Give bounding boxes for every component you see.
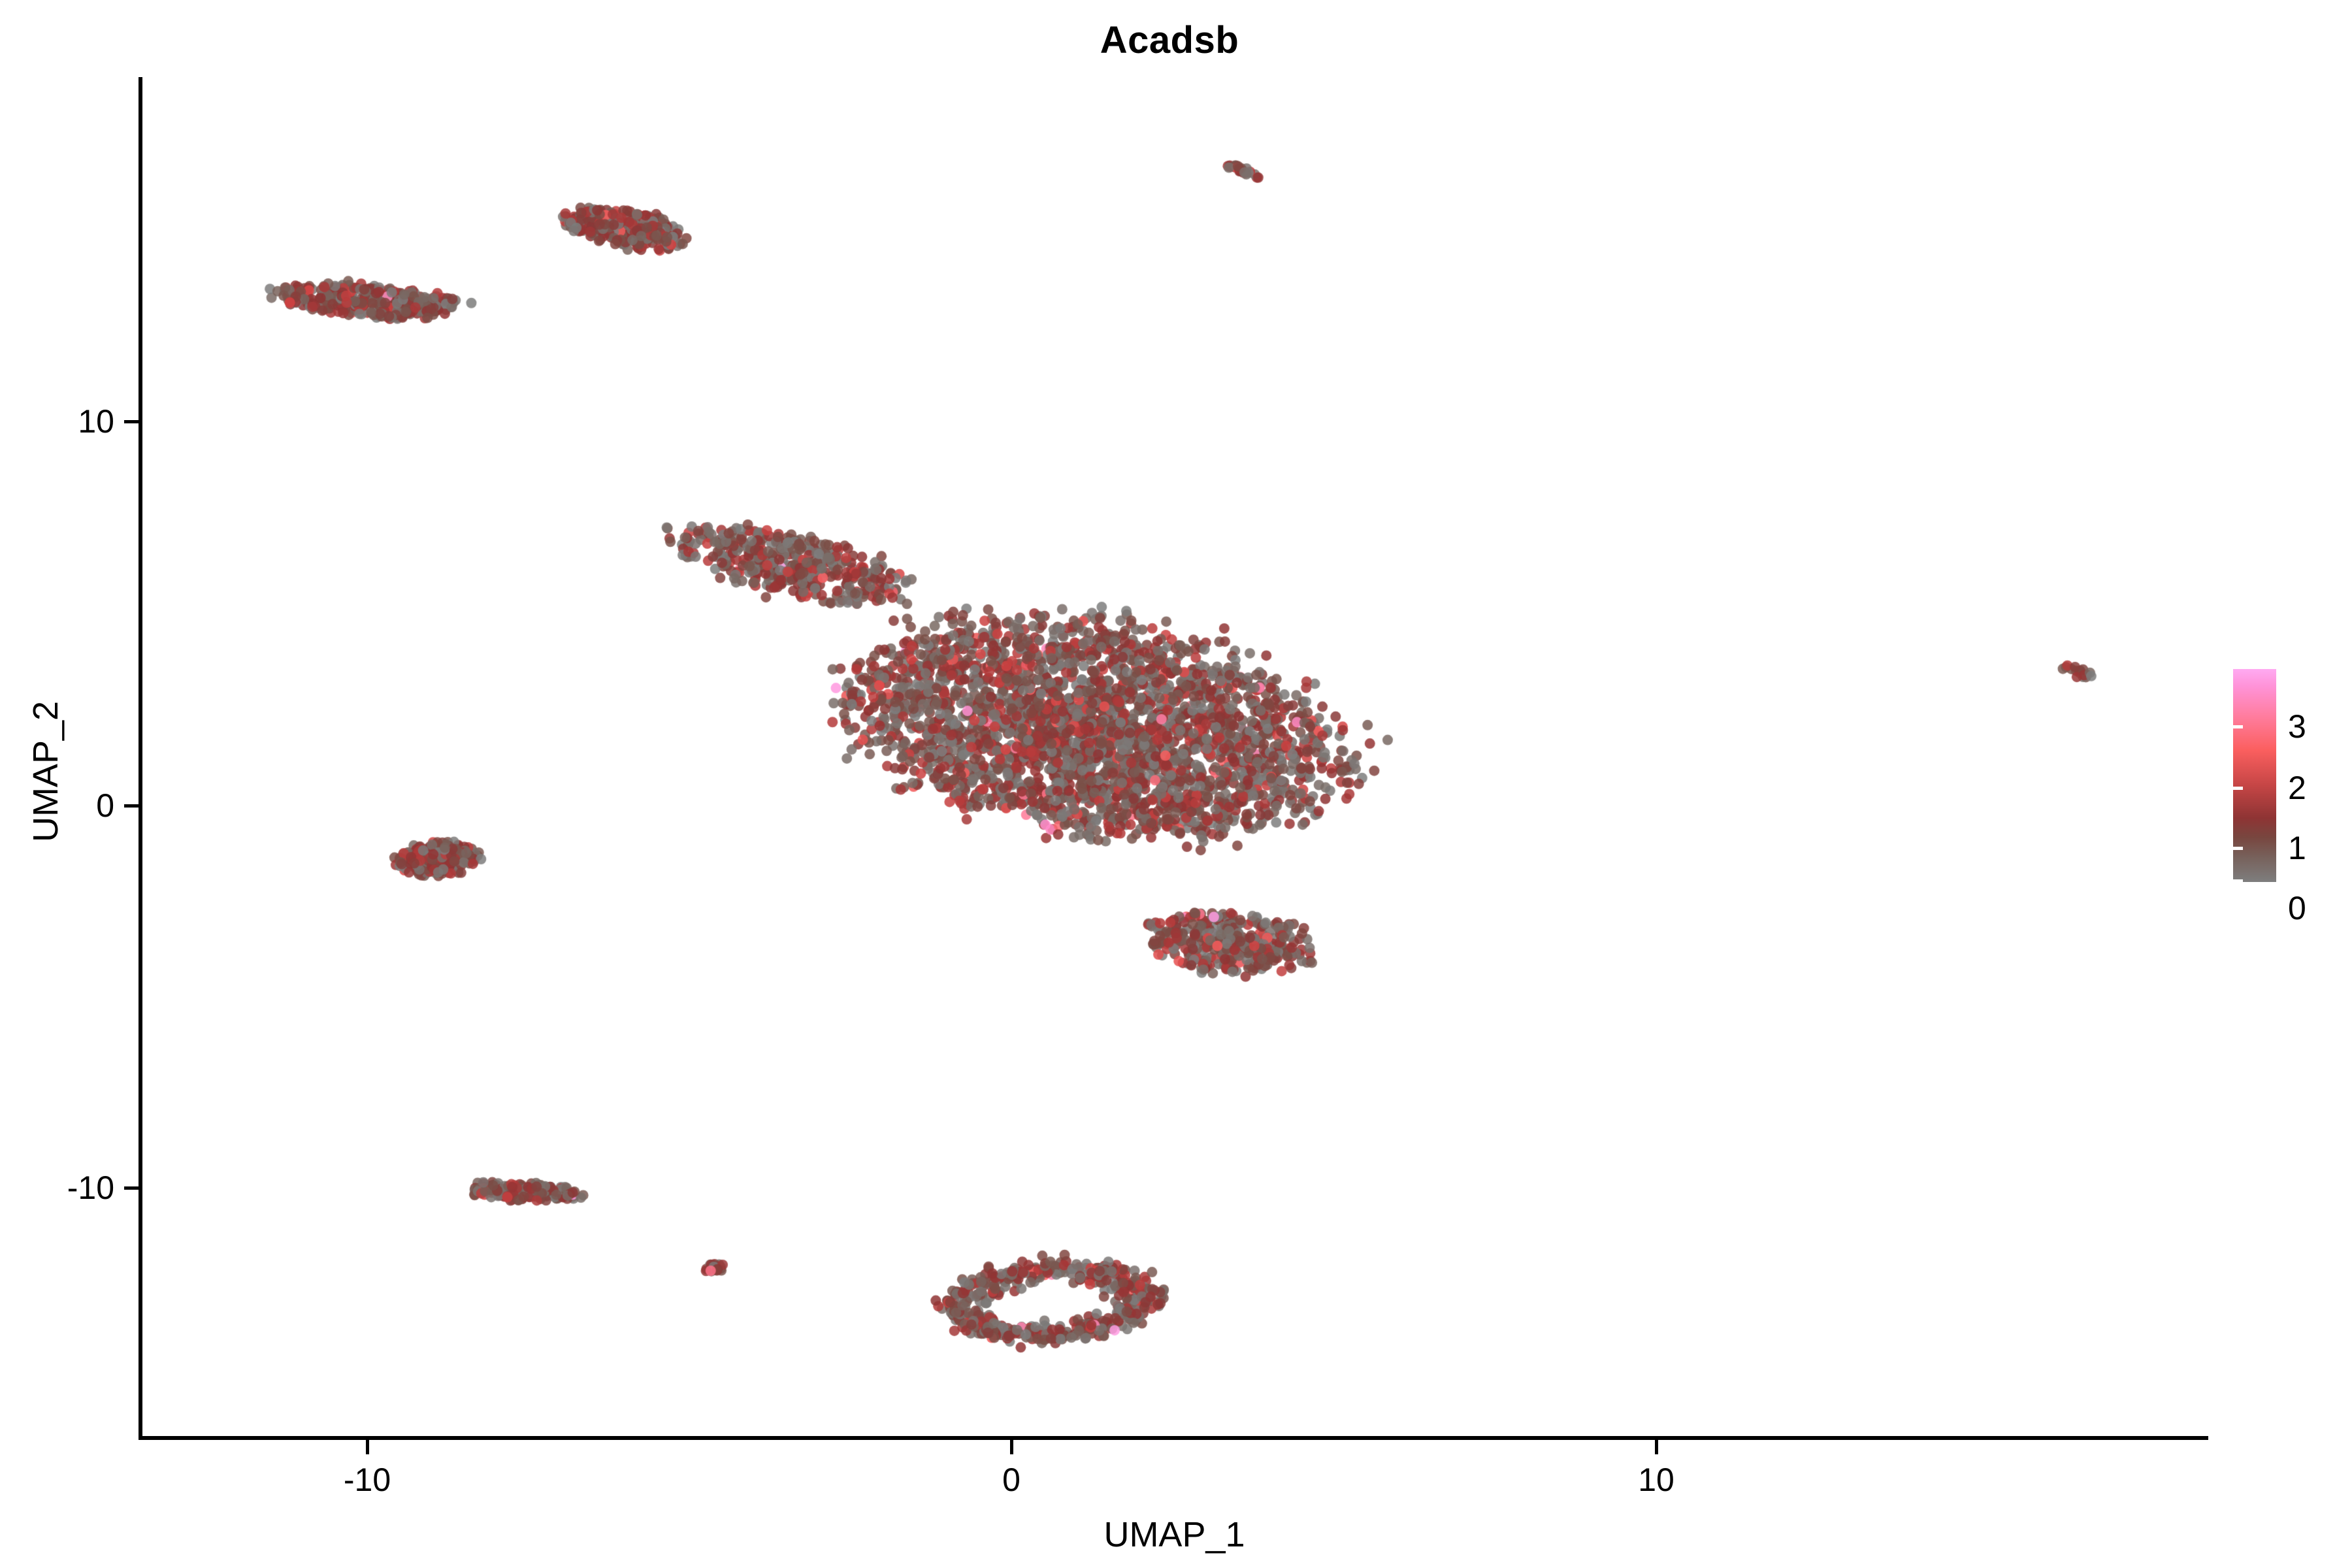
y-tick-mark [124,1186,139,1190]
x-tick-label: 0 [1002,1461,1021,1499]
legend-tick-mark [2328,725,2338,728]
y-tick-label: 10 [78,402,114,440]
legend-tick-mark [2233,725,2243,728]
legend-tick-mark [2328,879,2338,883]
y-tick-label: 0 [96,787,114,825]
legend-label: 0 [2288,889,2306,927]
legend-tick-mark [2328,787,2338,790]
legend-tick-mark [2233,879,2243,883]
x-tick-mark [1010,1440,1013,1454]
y-tick-label: -10 [67,1169,114,1207]
legend-tick-mark [2233,787,2243,790]
legend-colorbar [2233,669,2276,882]
x-tick-label: 10 [1638,1461,1674,1499]
y-axis-line [139,77,142,1440]
legend-label: 1 [2288,829,2306,867]
legend-tick-mark [2328,847,2338,850]
x-tick-mark [1655,1440,1658,1454]
x-tick-mark [366,1440,369,1454]
x-tick-label: -10 [344,1461,391,1499]
legend-tick-mark [2233,847,2243,850]
y-tick-mark [124,804,139,808]
y-tick-mark [124,420,139,423]
scatter-points-layer [0,0,2352,1568]
legend-label: 2 [2288,769,2306,807]
x-axis-title: UMAP_1 [140,1514,2208,1555]
x-axis-line [140,1436,2208,1440]
y-axis-title: UMAP_2 [25,510,66,1033]
color-legend: 3 2 1 0 [2233,669,2338,891]
legend-label: 3 [2288,708,2306,745]
umap-feature-plot: Acadsb -10 0 10 10 0 -10 UMAP_1 UMAP_2 3… [0,0,2352,1568]
